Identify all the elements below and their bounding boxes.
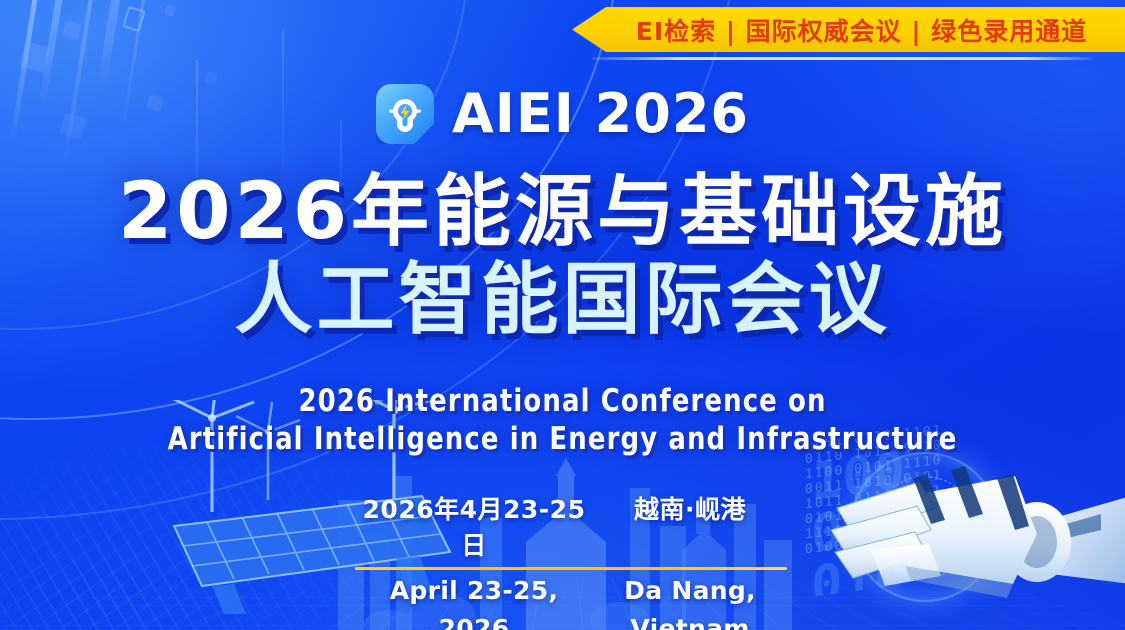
logo-glyph <box>376 84 434 144</box>
page-subtitle-en: 2026 International Conference on Artific… <box>0 382 1125 458</box>
floating-diamond-icon <box>62 20 82 40</box>
title-cn-line2: 人工智能国际会议 <box>0 256 1125 344</box>
subtitle-en-line1: 2026 International Conference on <box>39 382 1085 420</box>
subtitle-en-line2: Artificial Intelligence in Energy and In… <box>39 420 1085 458</box>
floating-diamond-icon <box>19 41 51 73</box>
tech-ring-decoration <box>850 452 1000 602</box>
event-place-cn: 越南·岘港 <box>593 492 787 528</box>
event-meta-row-cn: 2026年4月23-25日 越南·岘港 <box>355 492 787 564</box>
event-meta-block: 2026年4月23-25日 越南·岘港 April 23-25, 2026 Da… <box>355 492 787 630</box>
ei-index-ribbon[interactable]: EI检索 | 国际权威会议 | 绿色录用通道 <box>572 7 1125 52</box>
floating-diamond-icon <box>164 5 176 17</box>
light-streak <box>97 0 122 88</box>
glow-point-icon <box>885 490 911 516</box>
title-cn-line1: 2026年能源与基础设施 <box>0 168 1125 256</box>
event-meta-row-en: April 23-25, 2026 Da Nang, Vietnam <box>355 572 787 630</box>
ribbon-underline <box>592 57 1092 60</box>
energy-bolt-logo-icon <box>376 84 434 144</box>
conference-banner: 100 0100 010 1001 0110 1101 0110 1011 00… <box>0 0 1125 630</box>
floating-diamond-icon <box>122 6 145 32</box>
robot-hand-illustration <box>801 434 1125 630</box>
event-date-cn: 2026年4月23-25日 <box>355 492 593 564</box>
ribbon-label: EI检索 | 国际权威会议 | 绿色录用通道 <box>610 12 1087 48</box>
event-date-en: April 23-25, 2026 <box>355 572 593 630</box>
logo-wordmark: AIEI 2026 <box>452 87 749 141</box>
event-place-en: Da Nang, Vietnam <box>593 572 787 630</box>
page-title-cn: 2026年能源与基础设施 人工智能国际会议 <box>0 168 1125 344</box>
event-meta-divider <box>355 567 787 570</box>
logo-row: AIEI 2026 <box>0 84 1125 144</box>
